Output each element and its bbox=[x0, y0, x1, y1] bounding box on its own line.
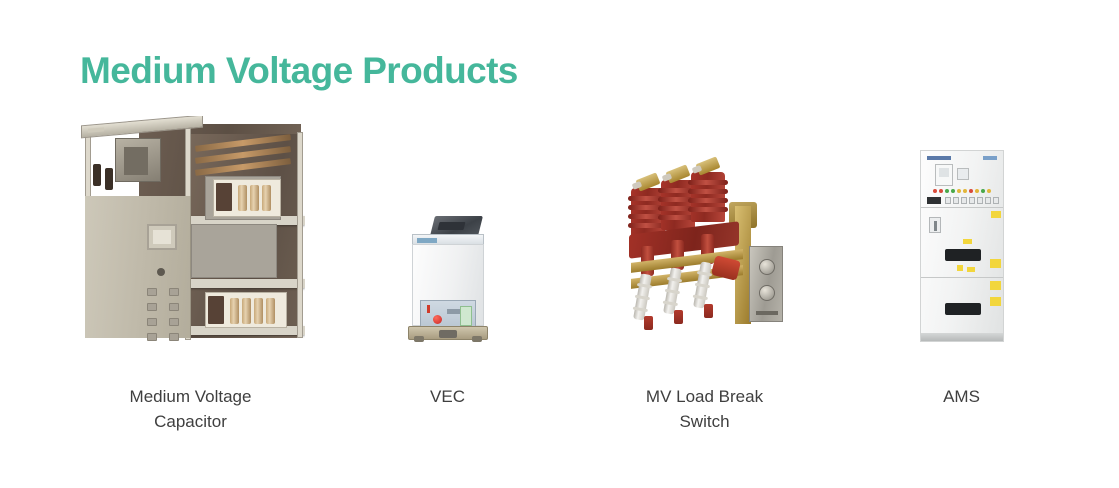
panel-button bbox=[977, 197, 983, 204]
switch-pole bbox=[691, 172, 725, 222]
viewing-window bbox=[945, 249, 981, 261]
breaker-wheel bbox=[472, 336, 482, 342]
ams-switchgear-photo[interactable] bbox=[920, 150, 1004, 342]
analog-meter bbox=[147, 224, 177, 250]
product-card-vec[interactable]: VEC bbox=[319, 112, 576, 434]
capacitor-terminal-block bbox=[216, 183, 232, 211]
product-card-mv-load-break-switch[interactable]: MV Load Break Switch bbox=[576, 112, 833, 434]
door-handle bbox=[929, 217, 941, 233]
insulator-stud bbox=[105, 168, 113, 190]
insulator-stud bbox=[93, 164, 101, 186]
panel-button bbox=[985, 197, 991, 204]
product-caption: MV Load Break Switch bbox=[605, 384, 805, 434]
cabinet-shelf bbox=[181, 279, 305, 288]
medium-voltage-products-section: Medium Voltage Products bbox=[0, 0, 1119, 488]
switchgear-model-label bbox=[983, 156, 997, 160]
switch-pole bbox=[661, 180, 695, 230]
operating-mechanism-box bbox=[749, 246, 783, 322]
panel-button bbox=[993, 197, 999, 204]
interior-panel-plate bbox=[191, 224, 277, 278]
bushing-terminal bbox=[635, 172, 660, 191]
switchgear-brand-label bbox=[927, 156, 951, 160]
product-caption-line-1: AMS bbox=[943, 387, 980, 406]
indicator-lamp bbox=[945, 189, 949, 193]
pushbutton bbox=[169, 303, 179, 311]
panel-button bbox=[945, 197, 951, 204]
product-caption-line-1: VEC bbox=[430, 387, 465, 406]
capacitor-can bbox=[242, 298, 251, 324]
indicator-lamp bbox=[987, 189, 991, 193]
medium-voltage-capacitor-photo[interactable] bbox=[77, 116, 305, 342]
product-caption-line-1: Medium Voltage bbox=[130, 387, 252, 406]
warning-label bbox=[990, 259, 1001, 268]
warning-label bbox=[963, 239, 972, 244]
frame-post bbox=[85, 128, 91, 202]
product-thumbnail-wrapper bbox=[62, 112, 319, 342]
mv-load-break-switch-photo[interactable] bbox=[627, 162, 783, 342]
cabinet-front-door bbox=[85, 196, 191, 338]
vec-vacuum-circuit-breaker-photo[interactable] bbox=[406, 216, 490, 342]
lower-terminal bbox=[644, 316, 653, 330]
warning-label bbox=[991, 211, 1001, 218]
warning-label bbox=[990, 297, 1001, 306]
capacitor-can bbox=[254, 298, 263, 324]
product-caption: Medium Voltage Capacitor bbox=[91, 384, 291, 434]
product-grid: Medium Voltage Capacitor bbox=[0, 112, 1119, 434]
cubicle-door-seam bbox=[921, 277, 1003, 278]
cubicle-door-seam bbox=[921, 207, 1003, 208]
lower-terminal bbox=[704, 304, 713, 318]
product-thumbnail-wrapper bbox=[319, 112, 576, 342]
capacitor-unit bbox=[205, 292, 287, 328]
panel-meter bbox=[935, 164, 953, 186]
panel-display bbox=[957, 168, 969, 180]
selector-knob bbox=[157, 268, 165, 276]
product-thumbnail-wrapper bbox=[576, 112, 833, 342]
bushing-terminal bbox=[665, 164, 690, 183]
mechanism-dial bbox=[759, 259, 775, 275]
product-thumbnail-wrapper bbox=[833, 112, 1090, 342]
warning-label bbox=[990, 281, 1001, 290]
lower-terminal bbox=[674, 310, 683, 324]
panel-nameplate bbox=[927, 197, 941, 204]
panel-button bbox=[953, 197, 959, 204]
indicator-lamp bbox=[933, 189, 937, 193]
indicator-lamp-row bbox=[933, 189, 991, 193]
indicator-lamp bbox=[975, 189, 979, 193]
frame-post bbox=[297, 132, 303, 338]
pushbutton bbox=[147, 318, 157, 326]
trip-button bbox=[433, 315, 442, 324]
switch-mechanism-block bbox=[115, 138, 161, 182]
product-caption-line-1: MV Load Break bbox=[646, 387, 763, 406]
pushbutton bbox=[147, 288, 157, 296]
mechanism-nameplate bbox=[756, 311, 778, 315]
indicator-lamp bbox=[939, 189, 943, 193]
indicator-lamp bbox=[957, 189, 961, 193]
panel-indicator-stripe bbox=[427, 305, 430, 313]
panel-button-row bbox=[945, 197, 999, 204]
product-card-ams[interactable]: AMS bbox=[833, 112, 1090, 434]
warning-label bbox=[967, 267, 975, 272]
epoxy-bushing bbox=[691, 172, 725, 222]
capacitor-can bbox=[238, 185, 247, 211]
product-caption: VEC bbox=[348, 384, 548, 409]
epoxy-bushing bbox=[661, 180, 695, 230]
product-caption: AMS bbox=[862, 384, 1062, 409]
capacitor-terminal-block bbox=[208, 296, 224, 324]
pushbutton bbox=[169, 333, 179, 341]
indicator-lamp bbox=[963, 189, 967, 193]
capacitor-can bbox=[230, 298, 239, 324]
panel-button bbox=[969, 197, 975, 204]
product-caption-line-2: Capacitor bbox=[154, 412, 227, 431]
product-caption-line-2: Switch bbox=[679, 412, 729, 431]
capacitor-can bbox=[250, 185, 259, 211]
mechanism-dial bbox=[759, 285, 775, 301]
capacitor-can bbox=[266, 298, 275, 324]
breaker-label bbox=[417, 238, 437, 243]
warning-label bbox=[957, 265, 963, 271]
pushbutton-group bbox=[147, 288, 181, 341]
panel-button bbox=[961, 197, 967, 204]
bushing-terminal bbox=[695, 156, 720, 175]
pushbutton bbox=[147, 333, 157, 341]
capacitor-can bbox=[262, 185, 271, 211]
product-card-medium-voltage-capacitor[interactable]: Medium Voltage Capacitor bbox=[62, 112, 319, 434]
breaker-wheel bbox=[414, 336, 424, 342]
indicator-lamp bbox=[951, 189, 955, 193]
pushbutton bbox=[147, 303, 157, 311]
indicator-lamp bbox=[969, 189, 973, 193]
indicator-lamp bbox=[981, 189, 985, 193]
panel-green-label bbox=[460, 306, 472, 326]
page-title: Medium Voltage Products bbox=[80, 48, 518, 94]
pushbutton bbox=[169, 288, 179, 296]
viewing-window bbox=[945, 303, 981, 315]
capacitor-unit bbox=[213, 179, 281, 217]
cubicle-base bbox=[921, 333, 1003, 341]
pushbutton bbox=[169, 318, 179, 326]
support-insulator bbox=[693, 261, 712, 308]
